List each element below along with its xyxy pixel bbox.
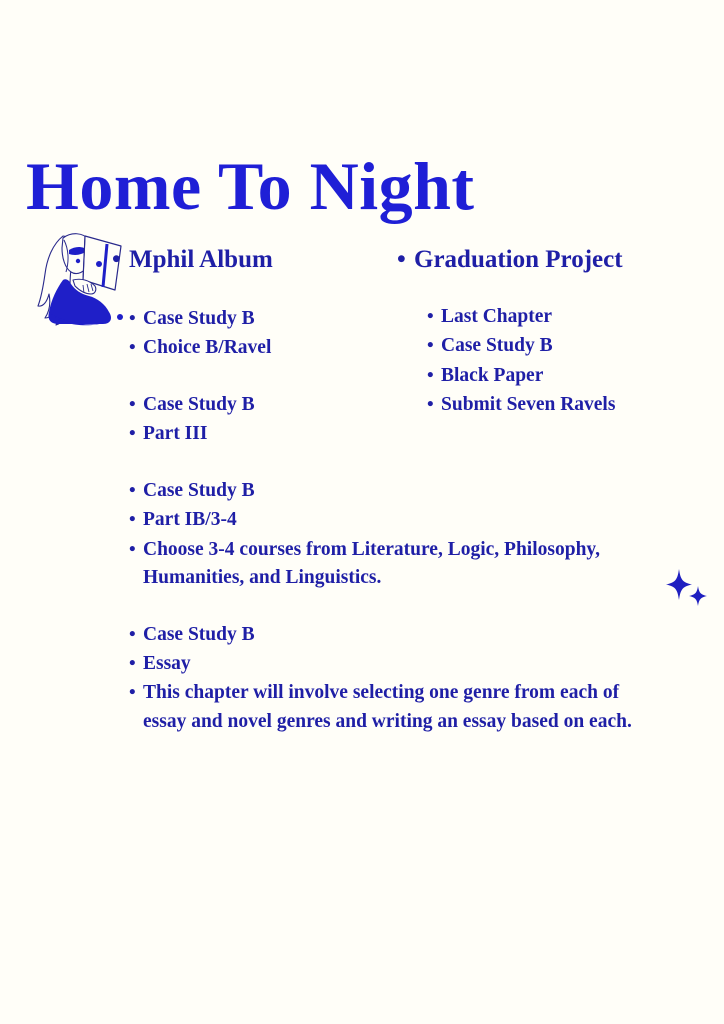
bullet-icon: • xyxy=(129,477,143,505)
list-item-label: Case Study B xyxy=(143,621,412,649)
list-item: • Black Paper xyxy=(427,362,697,390)
list-item: • Choice B/Ravel xyxy=(129,334,412,362)
list-mphil-group-2: • Case Study B • Part III xyxy=(129,391,412,449)
list-item-label: Case Study B xyxy=(143,305,412,333)
list-item: • Part IB/3-4 xyxy=(129,506,412,534)
list-item-label: Submit Seven Ravels xyxy=(441,391,697,419)
bullet-icon: • xyxy=(129,621,143,649)
list-item-label: Choice B/Ravel xyxy=(143,334,412,362)
sparkle-decoration xyxy=(664,567,710,611)
list-item: • Case Study B xyxy=(129,477,412,505)
list-mphil-group-1: • Case Study B • Choice B/Ravel xyxy=(129,305,412,363)
section-heading-label: Graduation Project xyxy=(414,246,623,275)
page-title: Home To Night xyxy=(26,152,475,220)
bullet-icon: • xyxy=(397,246,414,275)
section-heading-label: Mphil Album xyxy=(129,246,273,275)
list-item-label: Last Chapter xyxy=(441,303,697,331)
list-item-label: Part III xyxy=(143,420,412,448)
column-mphil-album: • Mphil Album • Case Study B • Choice B/… xyxy=(112,246,412,737)
list-item-label: Case Study B xyxy=(143,477,412,505)
bullet-icon: • xyxy=(129,506,143,534)
bullet-icon: • xyxy=(427,332,441,360)
bullet-icon: • xyxy=(427,303,441,331)
list-item-label: Essay xyxy=(143,650,412,678)
bullet-icon: • xyxy=(129,420,143,448)
sparkle-large-icon xyxy=(666,569,692,600)
bullet-icon: • xyxy=(427,391,441,419)
list-item: • Choose 3-4 courses from Literature, Lo… xyxy=(129,536,649,593)
list-item: • Part III xyxy=(129,420,412,448)
list-item: • Submit Seven Ravels xyxy=(427,391,697,419)
list-mphil-group-4: • Case Study B • Essay • This chapter wi… xyxy=(129,621,412,737)
list-item-label: Case Study B xyxy=(441,332,697,360)
sparkle-small-icon xyxy=(689,586,707,606)
list-item: • Last Chapter xyxy=(427,303,697,331)
list-mphil-group-3: • Case Study B • Part IB/3-4 • Choose 3-… xyxy=(129,477,412,593)
list-graduation-group-1: • Last Chapter • Case Study B • Black Pa… xyxy=(427,303,697,420)
bullet-icon: • xyxy=(129,679,143,707)
bullet-icon: • xyxy=(129,391,143,419)
document-page: Home To Night xyxy=(0,0,724,1024)
section-heading-mphil-album: • Mphil Album xyxy=(112,246,412,275)
group-separator xyxy=(112,364,412,391)
list-item-label: Part IB/3-4 xyxy=(143,506,412,534)
bullet-icon: • xyxy=(129,334,143,362)
list-item: • Case Study B xyxy=(129,621,412,649)
list-item-label: Black Paper xyxy=(441,362,697,390)
list-item-label: Case Study B xyxy=(143,391,412,419)
group-separator xyxy=(112,450,412,477)
list-item: • This chapter will involve selecting on… xyxy=(129,679,649,736)
section-heading-graduation-project: • Graduation Project xyxy=(397,246,697,275)
bullet-icon: • xyxy=(129,536,143,564)
column-graduation-project: • Graduation Project • Last Chapter • Ca… xyxy=(397,246,697,421)
list-item-label: Choose 3-4 courses from Literature, Logi… xyxy=(143,536,649,593)
list-item: • Case Study B xyxy=(427,332,697,360)
list-item: • Essay xyxy=(129,650,412,678)
group-separator xyxy=(112,594,412,621)
list-item-label: This chapter will involve selecting one … xyxy=(143,679,649,736)
bullet-icon: • xyxy=(112,246,129,275)
bullet-icon: • xyxy=(129,305,143,333)
bullet-icon: • xyxy=(427,362,441,390)
list-item: • Case Study B xyxy=(129,391,412,419)
bullet-icon: • xyxy=(129,650,143,678)
list-item: • Case Study B xyxy=(129,305,412,333)
